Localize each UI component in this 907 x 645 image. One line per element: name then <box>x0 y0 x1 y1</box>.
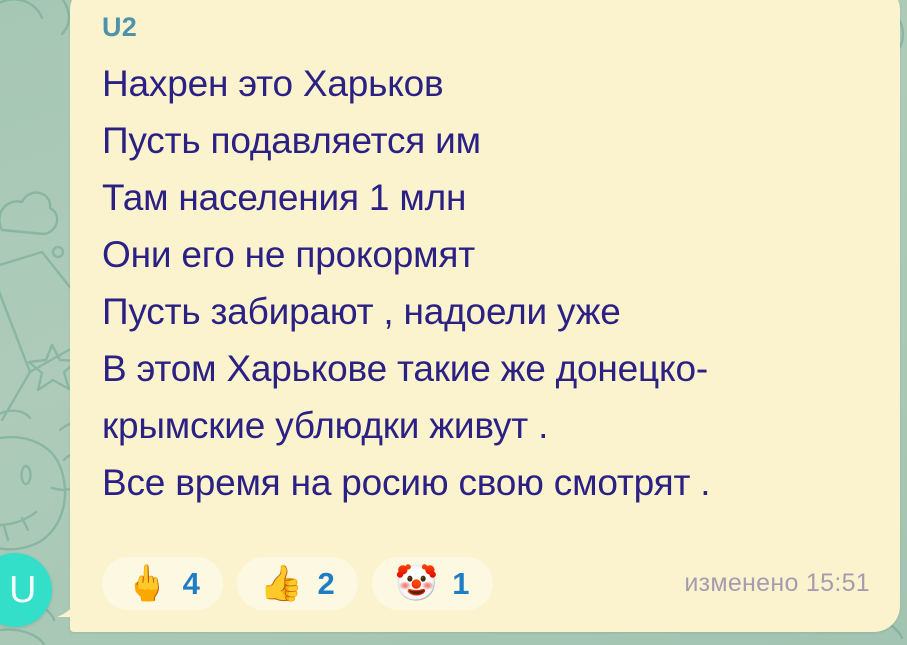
chat-screenshot: U U2 Нахрен это Харьков Пусть подавляетс… <box>0 0 907 645</box>
reaction-count: 4 <box>183 568 200 599</box>
bubble-tail-icon <box>57 595 79 617</box>
reaction-count: 1 <box>452 568 469 599</box>
message-bubble[interactable]: U2 Нахрен это Харьков Пусть подавляется … <box>70 0 900 632</box>
sender-name[interactable]: U2 <box>102 14 874 41</box>
avatar-letter: U <box>9 571 37 609</box>
clown-face-emoji-icon: 🤡 <box>395 566 439 601</box>
reaction-clown-face[interactable]: 🤡 1 <box>372 557 493 610</box>
thumbs-up-emoji-icon: 👍 <box>260 566 304 601</box>
reaction-row: 🖕 4 👍 2 🤡 1 <box>102 557 493 610</box>
reaction-middle-finger[interactable]: 🖕 4 <box>102 557 223 610</box>
middle-finger-emoji-icon: 🖕 <box>125 566 169 601</box>
edited-timestamp: изменено 15:51 <box>684 571 870 596</box>
message-text: Нахрен это Харьков Пусть подавляется им … <box>102 55 874 511</box>
reaction-count: 2 <box>317 568 334 599</box>
reaction-thumbs-up[interactable]: 👍 2 <box>237 557 358 610</box>
